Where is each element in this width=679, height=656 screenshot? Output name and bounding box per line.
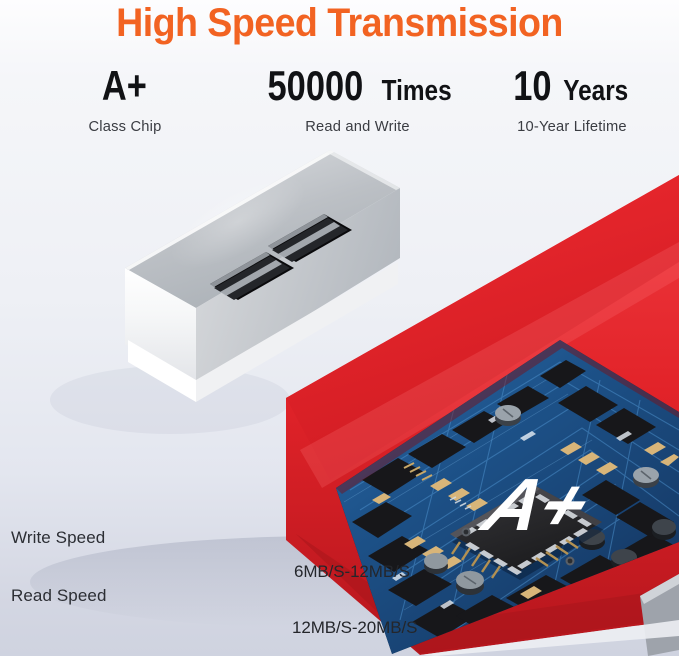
write-speed-label: Write Speed — [11, 528, 105, 548]
stat-unit: Times — [381, 69, 451, 113]
stat-value-group: 10 Years — [465, 64, 679, 110]
stat-item-lifetime: 10 Years 10-Year Lifetime — [465, 64, 679, 136]
stat-value: 50000 — [267, 64, 363, 108]
stat-caption: Read and Write — [252, 118, 463, 136]
stat-value-group: A+ — [0, 64, 250, 110]
stat-caption: Class Chip — [3, 118, 248, 136]
stat-item-read-write-cycles: 50000 Times Read and Write — [250, 64, 465, 136]
stat-value: 10 — [514, 64, 552, 108]
stat-value: A+ — [102, 64, 147, 108]
stat-unit: Years — [563, 69, 628, 113]
page-title: High Speed Transmission — [20, 1, 658, 45]
speed-meters: Write Speed 6MB/S-12MB/S Read Speed 12MB… — [0, 520, 679, 640]
stat-item-class-chip: A+ Class Chip — [0, 64, 250, 136]
product-infographic: High Speed Transmission A+ Class Chip 50… — [0, 0, 679, 656]
stat-value-group: 50000 Times — [250, 64, 465, 110]
stats-row: A+ Class Chip 50000 Times Read and Write… — [0, 64, 679, 150]
write-speed-value: 6MB/S-12MB/S — [294, 562, 410, 582]
read-speed-label: Read Speed — [11, 586, 107, 606]
read-speed-value: 12MB/S-20MB/S — [292, 618, 417, 638]
stat-caption: 10-Year Lifetime — [467, 118, 677, 136]
